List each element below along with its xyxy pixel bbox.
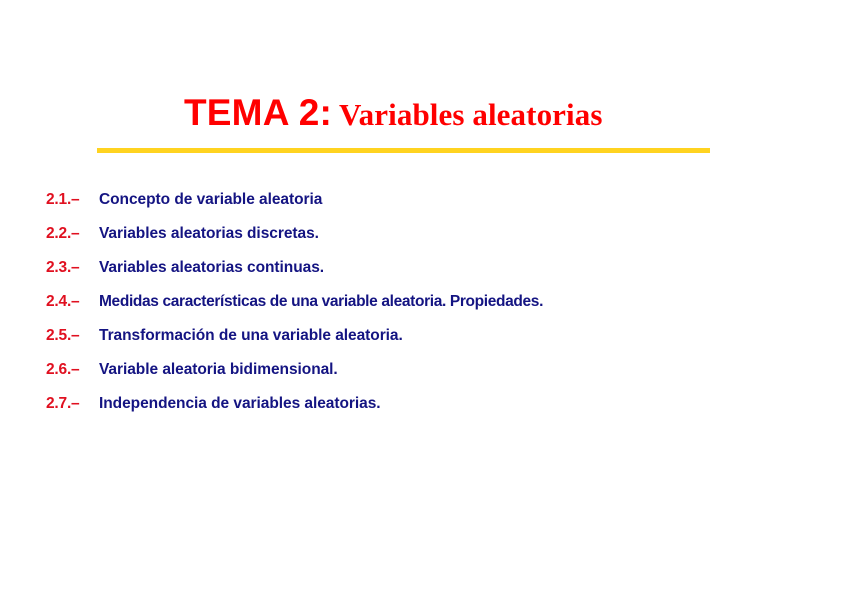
list-item-label: Medidas características de una variable … xyxy=(99,293,543,310)
list-item-number: 2.1.– xyxy=(46,190,99,210)
title-subtitle-text: Variables aleatorias xyxy=(339,97,602,132)
list-item-label: Concepto de variable aleatoria xyxy=(99,191,322,208)
gold-divider-rule xyxy=(97,148,710,153)
list-item-number: 2.5.– xyxy=(46,326,99,346)
list-item: 2.1.–Concepto de variable aleatoria xyxy=(46,190,806,224)
list-item-label: Independencia de variables aleatorias. xyxy=(99,395,381,412)
title-main-text: TEMA 2: xyxy=(184,92,332,133)
list-item-label: Variables aleatorias continuas. xyxy=(99,259,324,276)
list-item: 2.4.–Medidas características de una vari… xyxy=(46,292,806,326)
list-item: 2.7.–Independencia de variables aleatori… xyxy=(46,394,806,428)
slide-canvas: TEMA 2:Variables aleatorias 2.1.–Concept… xyxy=(0,0,848,599)
slide-title: TEMA 2:Variables aleatorias xyxy=(184,94,603,131)
list-item-number: 2.2.– xyxy=(46,224,99,244)
list-item: 2.5.–Transformación de una variable alea… xyxy=(46,326,806,360)
list-item-number: 2.6.– xyxy=(46,360,99,380)
list-item: 2.2.–Variables aleatorias discretas. xyxy=(46,224,806,258)
list-item-number: 2.4.– xyxy=(46,292,99,312)
list-item-number: 2.3.– xyxy=(46,258,99,278)
list-item-label: Transformación de una variable aleatoria… xyxy=(99,327,403,344)
list-item: 2.3.–Variables aleatorias continuas. xyxy=(46,258,806,292)
list-item-number: 2.7.– xyxy=(46,394,99,414)
list-item-label: Variables aleatorias discretas. xyxy=(99,225,319,242)
topic-index-list: 2.1.–Concepto de variable aleatoria 2.2.… xyxy=(46,190,806,428)
list-item: 2.6.–Variable aleatoria bidimensional. xyxy=(46,360,806,394)
list-item-label: Variable aleatoria bidimensional. xyxy=(99,361,338,378)
